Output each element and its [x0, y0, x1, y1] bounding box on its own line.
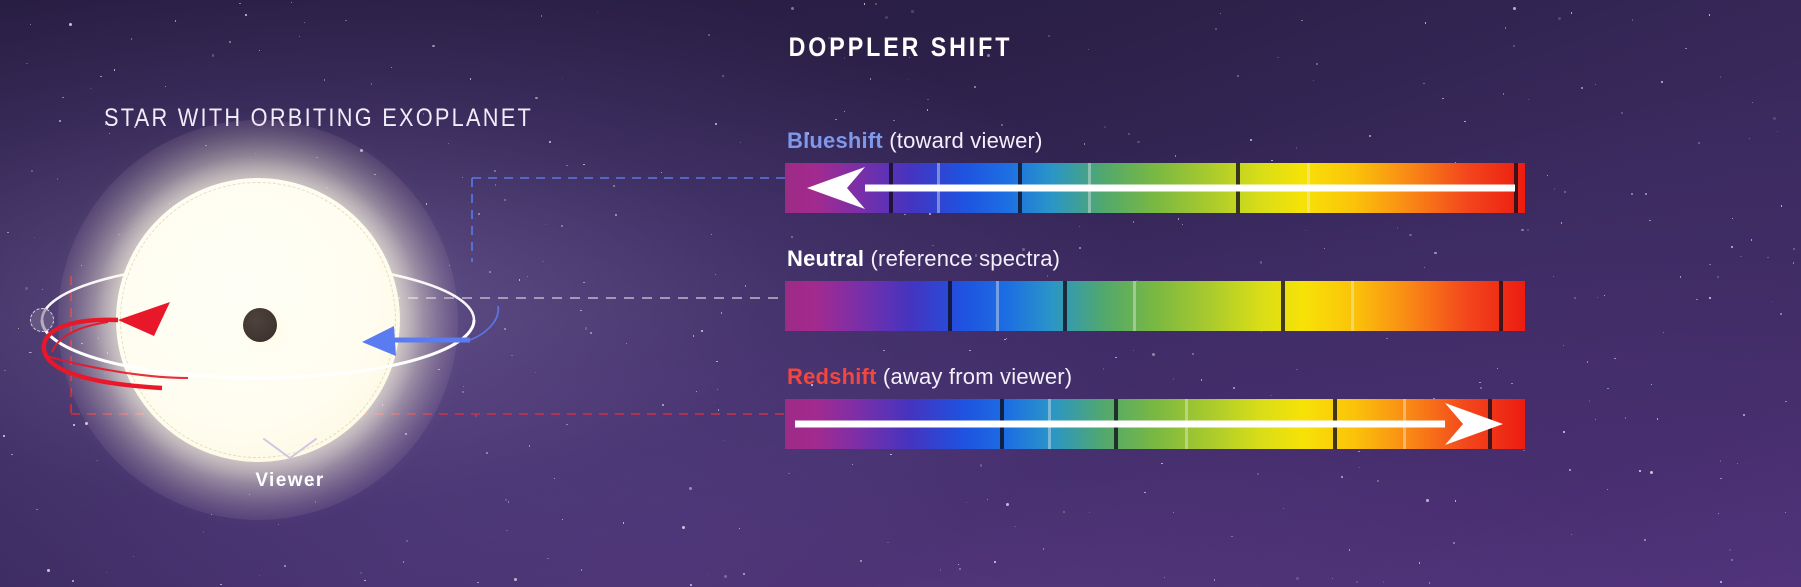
viewer-label: Viewer — [210, 470, 370, 492]
arrow-left-icon — [785, 163, 1525, 213]
spectrum-row-blueshift: Blueshift (toward viewer) — [785, 128, 1525, 213]
motion-away-arrow-tail — [46, 356, 188, 378]
star-system-illustration — [0, 140, 580, 440]
spectrum-paren-blueshift: (toward viewer) — [883, 128, 1043, 153]
doppler-shift-infographic: DOPPLER SHIFT STAR WITH ORBITING EXOPLAN… — [0, 0, 1801, 587]
spectrum-key-blueshift: Blueshift — [787, 128, 883, 153]
motion-toward-arrow — [362, 306, 498, 356]
absorption-line — [1499, 281, 1503, 331]
spectra-panel: Blueshift (toward viewer) Neutral (refer… — [785, 0, 1801, 587]
absorption-line-faint — [1351, 281, 1354, 331]
chevron-down-icon — [260, 436, 320, 462]
spectrum-label-neutral: Neutral (reference spectra) — [787, 246, 1525, 272]
absorption-line — [1063, 281, 1067, 331]
spectrum-row-neutral: Neutral (reference spectra) — [785, 246, 1525, 331]
spectrum-label-blueshift: Blueshift (toward viewer) — [787, 128, 1525, 154]
spectrum-paren-redshift: (away from viewer) — [877, 364, 1073, 389]
absorption-line — [948, 281, 952, 331]
spectrum-paren-neutral: (reference spectra) — [864, 246, 1060, 271]
spectrum-bar-neutral — [785, 281, 1525, 331]
viewer-indicator: Viewer — [210, 436, 370, 492]
arrow-right-icon — [785, 399, 1525, 449]
spectrum-key-neutral: Neutral — [787, 246, 864, 271]
spectrum-key-redshift: Redshift — [787, 364, 877, 389]
absorption-line-faint — [1133, 281, 1136, 331]
absorption-line — [1281, 281, 1285, 331]
spectrum-label-redshift: Redshift (away from viewer) — [787, 364, 1525, 390]
absorption-line-faint — [996, 281, 999, 331]
spectrum-row-redshift: Redshift (away from viewer) — [785, 364, 1525, 449]
orbit-front-and-arrows — [0, 140, 580, 440]
orbit-marker-left — [30, 308, 54, 332]
spectrum-bar-redshift — [785, 399, 1525, 449]
spectrum-bar-blueshift — [785, 163, 1525, 213]
exoplanet — [243, 308, 277, 342]
